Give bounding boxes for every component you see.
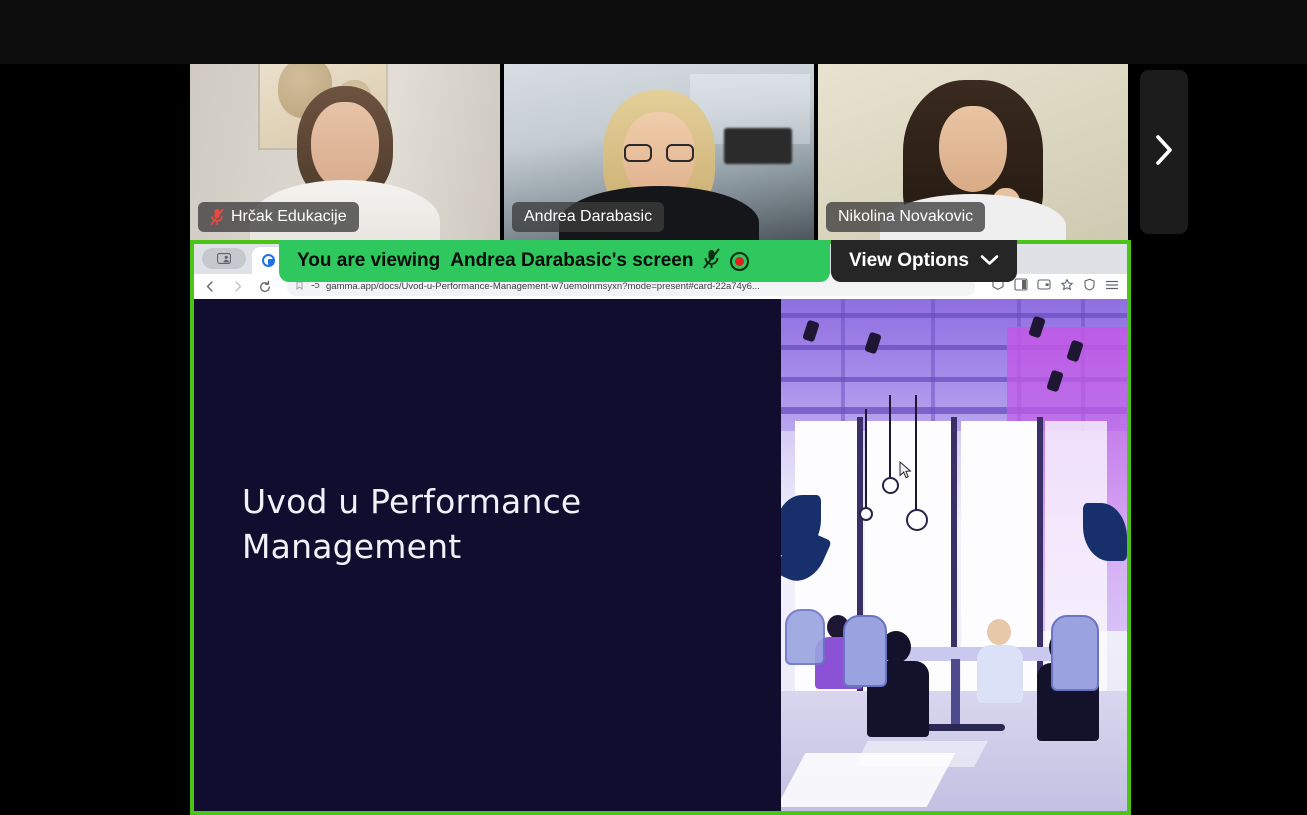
presentation-slide: Uvod u Performance Management xyxy=(194,299,1127,811)
sunlight-patch xyxy=(854,741,988,767)
mouse-pointer-icon xyxy=(899,461,912,479)
participant-name-pill-3: Nikolina Novakovic xyxy=(826,202,985,232)
pendant-bulb xyxy=(859,507,873,521)
wallet-icon[interactable] xyxy=(1037,278,1051,296)
banner-viewing-prefix: You are viewing xyxy=(297,250,440,272)
pendant-bulb xyxy=(906,509,928,531)
pendant-light xyxy=(865,409,867,511)
participant-tile-3[interactable]: Nikolina Novakovic xyxy=(818,64,1128,240)
zoom-meeting-window: Hrčak Edukacije Andrea Darabasic xyxy=(0,0,1307,815)
office-chair xyxy=(785,609,825,665)
next-participants-button[interactable] xyxy=(1140,70,1188,234)
pendant-light xyxy=(915,395,917,513)
participant-filmstrip: Hrčak Edukacije Andrea Darabasic xyxy=(190,64,1130,240)
shared-screen-view[interactable]: Uvod u P xyxy=(190,240,1131,815)
bookmark-icon[interactable] xyxy=(295,281,304,293)
view-options-label: View Options xyxy=(849,250,969,272)
participant-name-3: Nikolina Novakovic xyxy=(838,208,973,226)
chevron-right-icon xyxy=(1153,133,1175,172)
menu-icon[interactable] xyxy=(1105,278,1119,296)
recording-dot-icon xyxy=(730,252,749,271)
slide-title: Uvod u Performance Management xyxy=(242,479,662,569)
view-options-button[interactable]: View Options xyxy=(831,240,1017,282)
office-chair xyxy=(843,615,887,687)
profile-avatar-icon[interactable] xyxy=(202,248,246,269)
participant-name-pill-2: Andrea Darabasic xyxy=(512,202,664,232)
link-icon xyxy=(310,281,320,293)
mic-off-icon xyxy=(703,248,720,275)
participant-name-1: Hrčak Edukacije xyxy=(231,208,347,226)
participant-name-pill-1: Hrčak Edukacije xyxy=(198,202,359,232)
shield-icon[interactable] xyxy=(1083,278,1096,296)
split-view-icon[interactable] xyxy=(1014,278,1028,296)
office-chair xyxy=(1051,615,1099,691)
screen-share-banner: You are viewing Andrea Darabasic's scree… xyxy=(279,240,830,282)
mic-off-icon xyxy=(210,208,224,226)
slide-text-column: Uvod u Performance Management xyxy=(194,299,781,811)
participant-tile-2[interactable]: Andrea Darabasic xyxy=(504,64,814,240)
arrow-forward-icon[interactable] xyxy=(229,278,246,295)
pendant-light xyxy=(889,395,891,481)
participant-tile-1[interactable]: Hrčak Edukacije xyxy=(190,64,500,240)
arrow-back-icon[interactable] xyxy=(202,278,219,295)
window-top-band xyxy=(0,0,1307,64)
pendant-bulb xyxy=(882,477,899,494)
participant-name-2: Andrea Darabasic xyxy=(524,208,652,226)
reload-icon[interactable] xyxy=(256,278,273,295)
chevron-down-icon xyxy=(980,250,999,272)
office-meeting-illustration xyxy=(781,299,1127,811)
star-icon[interactable] xyxy=(1060,278,1074,296)
url-text: gamma.app/docs/Uvod-u-Performance-Manage… xyxy=(326,281,760,292)
banner-presenter-name: Andrea Darabasic's screen xyxy=(450,250,693,272)
gamma-favicon xyxy=(262,254,275,267)
